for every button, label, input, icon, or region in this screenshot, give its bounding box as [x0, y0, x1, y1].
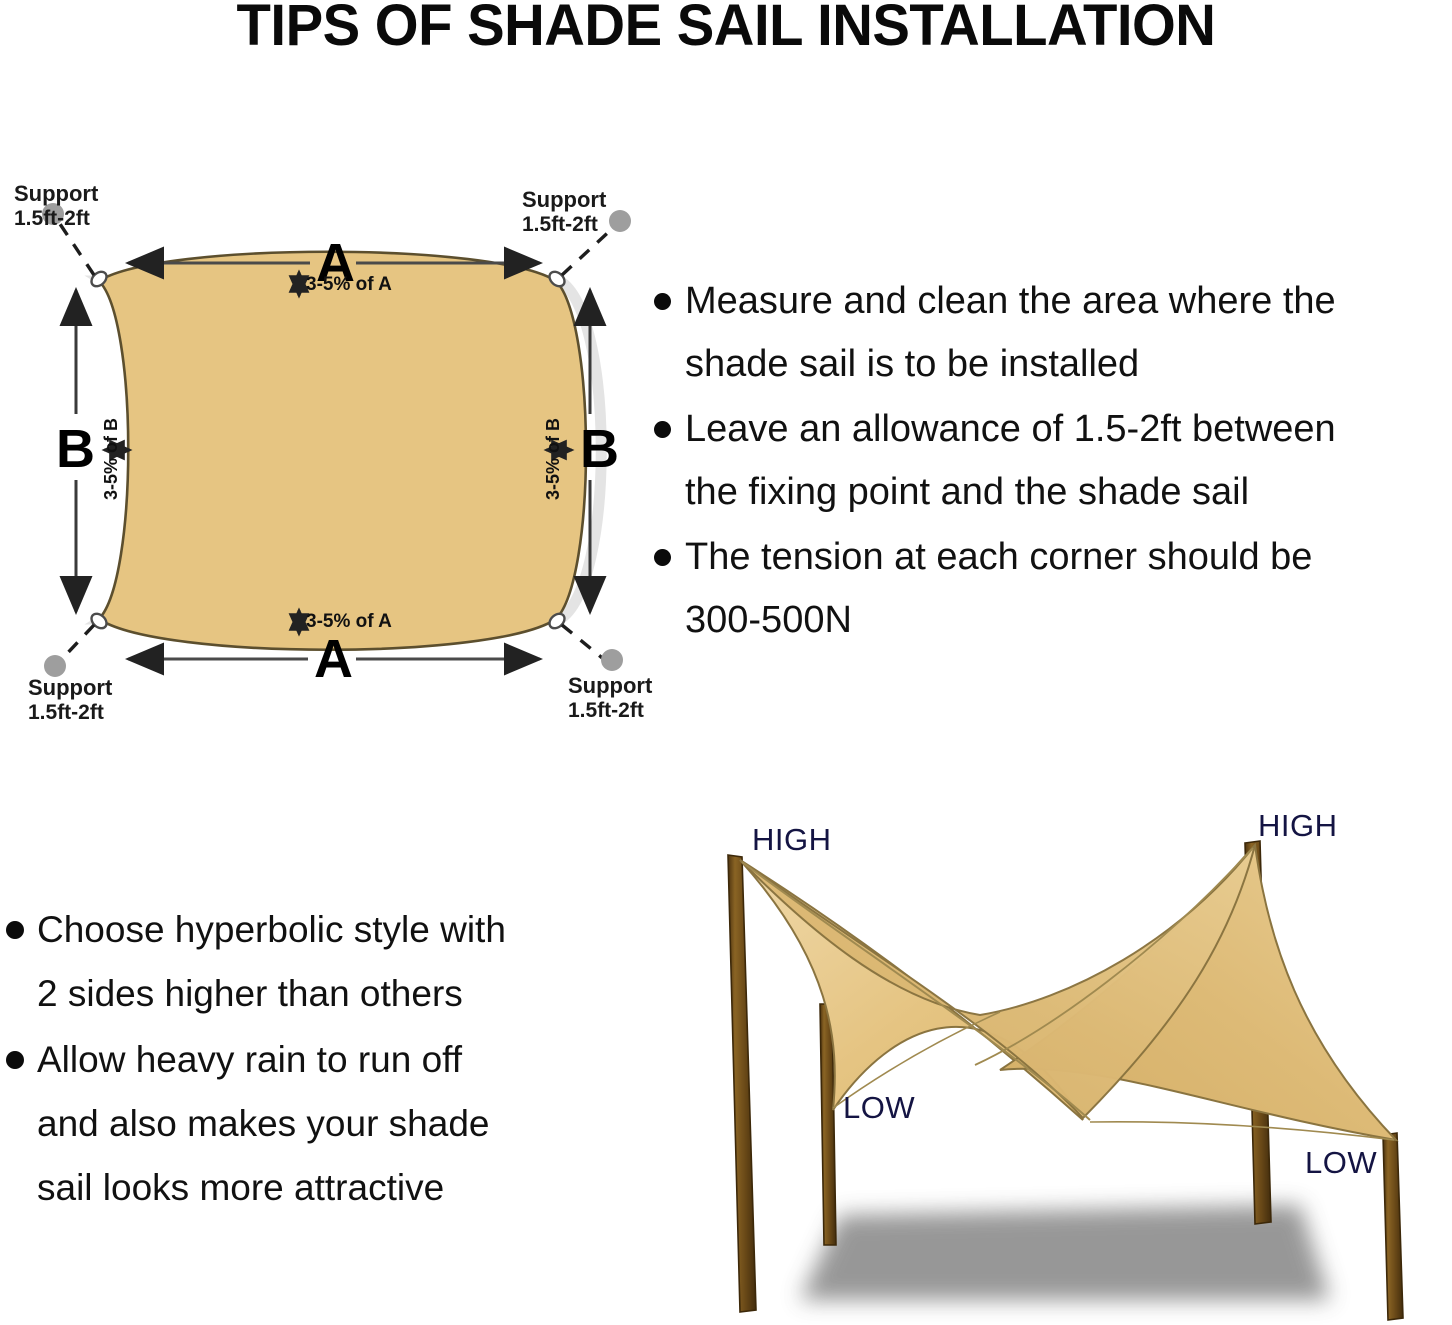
page-title: TIPS OF SHADE SAIL INSTALLATION: [22, 0, 1430, 57]
list-item-line: Choose hyperbolic style with: [37, 898, 626, 962]
label-high-left: HIGH: [752, 822, 832, 858]
list-item-line: the fixing point and the shade sail: [685, 461, 1452, 524]
support-label-bottom-right: Support 1.5ft-2ft: [568, 674, 652, 722]
list-item-line: Allow heavy rain to run off: [37, 1028, 626, 1092]
bullet-dot-icon: [654, 549, 671, 566]
support-label-top-left: Support 1.5ft-2ft: [14, 182, 98, 230]
support-label-line1: Support: [568, 673, 652, 698]
dimension-letter-B-left: B: [56, 422, 95, 476]
list-item-line: 2 sides higher than others: [37, 962, 626, 1026]
list-item-line: Measure and clean the area where the: [685, 270, 1452, 333]
list-item-line: and also makes your shade: [37, 1092, 626, 1156]
list-item: The tension at each corner should be 300…: [654, 526, 1452, 652]
list-item-text: Choose hyperbolic style with 2 sides hig…: [37, 898, 626, 1026]
installation-tips-list: Measure and clean the area where the sha…: [654, 270, 1452, 654]
curve-note-left: 3-5% of B: [102, 418, 120, 500]
post-high-left: [728, 855, 756, 1312]
corner-ring-bottom-right: [547, 611, 568, 631]
hyperbolic-style-tips-list: Choose hyperbolic style with 2 sides hig…: [6, 898, 626, 1222]
support-label-line2: 1.5ft-2ft: [28, 701, 112, 725]
list-item-line: Leave an allowance of 1.5-2ft between: [685, 398, 1452, 461]
label-low-right: LOW: [1305, 1145, 1377, 1181]
support-label-line1: Support: [522, 187, 606, 212]
support-label-line2: 1.5ft-2ft: [568, 699, 652, 723]
curve-note-top: 3-5% of A: [306, 275, 392, 294]
infographic-page: TIPS OF SHADE SAIL INSTALLATION: [0, 0, 1452, 1325]
support-dot-top-right: [609, 210, 631, 232]
list-item-text: The tension at each corner should be 300…: [685, 526, 1452, 652]
list-item-text: Measure and clean the area where the sha…: [685, 270, 1452, 396]
corner-ring-bottom-left: [89, 611, 110, 631]
bullet-dot-icon: [6, 1051, 24, 1069]
list-item: Allow heavy rain to run off and also mak…: [6, 1028, 626, 1220]
post-low-right: [1383, 1133, 1403, 1320]
sail-seam-left: [742, 862, 1090, 1120]
label-low-left: LOW: [843, 1090, 915, 1126]
label-high-right: HIGH: [1258, 808, 1338, 844]
support-label-top-right: Support 1.5ft-2ft: [522, 188, 606, 236]
sail-seam-bottom-right: [1090, 1122, 1394, 1140]
post-low-left: [820, 1004, 836, 1245]
support-dot-bottom-left: [44, 655, 66, 677]
support-label-line1: Support: [14, 181, 98, 206]
support-label-line2: 1.5ft-2ft: [522, 213, 606, 237]
corner-ring-top-left: [89, 269, 110, 289]
list-item-text: Allow heavy rain to run off and also mak…: [37, 1028, 626, 1220]
list-item: Measure and clean the area where the sha…: [654, 270, 1452, 396]
sail-panel-right: [1000, 845, 1396, 1140]
list-item-text: Leave an allowance of 1.5-2ft between th…: [685, 398, 1452, 524]
list-item-line: 300-500N: [685, 589, 1452, 652]
dimension-letter-A-bottom: A: [314, 632, 353, 686]
bullet-dot-icon: [6, 921, 24, 939]
post-high-right: [1245, 841, 1271, 1224]
sail-panel-left: [740, 860, 1083, 1120]
support-dot-bottom-right: [601, 649, 623, 671]
list-item: Leave an allowance of 1.5-2ft between th…: [654, 398, 1452, 524]
support-label-line2: 1.5ft-2ft: [14, 207, 98, 231]
list-item: Choose hyperbolic style with 2 sides hig…: [6, 898, 626, 1026]
list-item-line: sail looks more attractive: [37, 1156, 626, 1220]
curve-note-right: 3-5% of B: [544, 418, 562, 500]
sail-saddle-band: [740, 845, 1255, 1118]
corner-ring-top-right: [547, 269, 568, 289]
support-label-line1: Support: [28, 675, 112, 700]
ground-shadow: [800, 1205, 1330, 1300]
rectangular-sail-shape: [99, 252, 586, 650]
sail-seam-right: [975, 848, 1253, 1065]
bullet-dot-icon: [654, 293, 671, 310]
support-label-bottom-left: Support 1.5ft-2ft: [28, 676, 112, 724]
list-item-line: shade sail is to be installed: [685, 333, 1452, 396]
sail-webbing-edge: [104, 281, 601, 619]
bullet-dot-icon: [654, 421, 671, 438]
curve-note-bottom: 3-5% of A: [306, 612, 392, 631]
list-item-line: The tension at each corner should be: [685, 526, 1452, 589]
dimension-letter-B-right: B: [580, 422, 619, 476]
